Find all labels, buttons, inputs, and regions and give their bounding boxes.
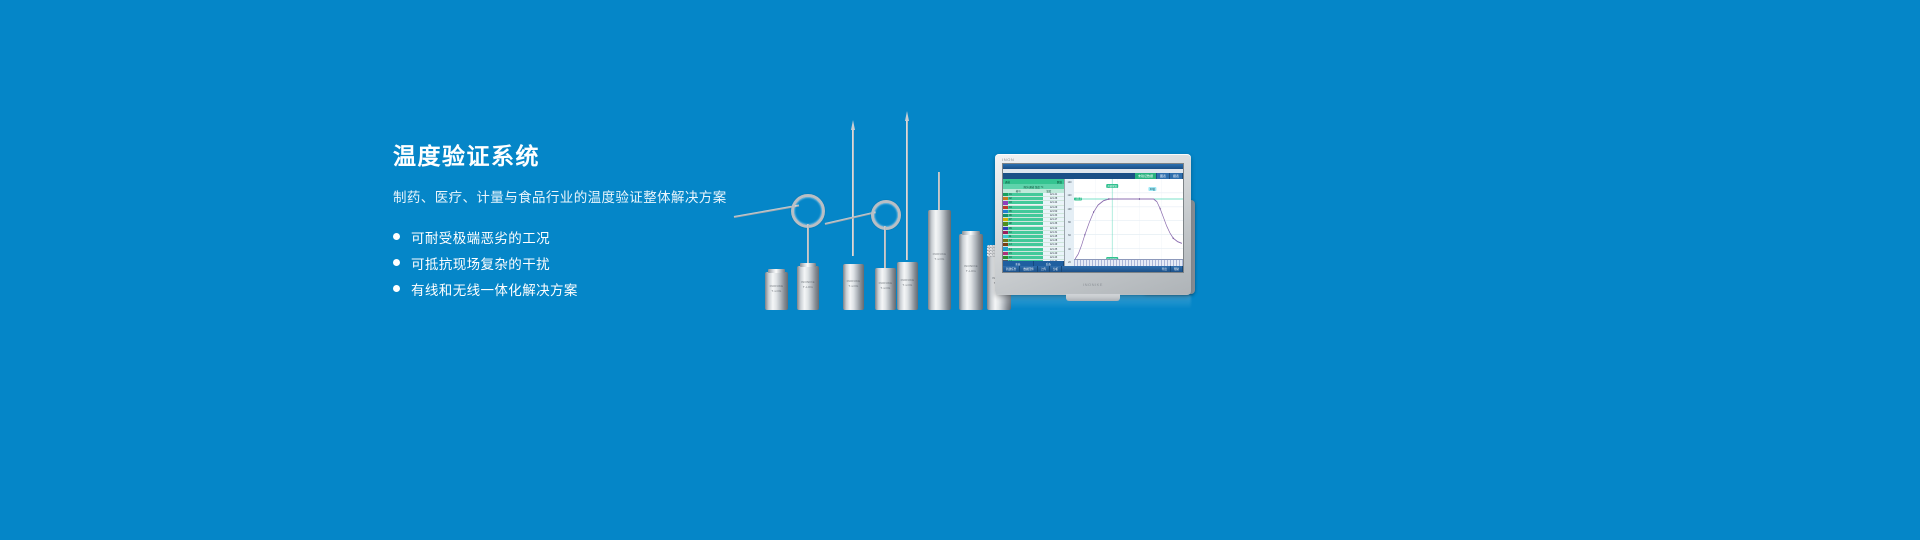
channel-id-cell: 03	[1008, 201, 1043, 204]
channel-value-cell: 121.35	[1043, 248, 1064, 251]
marker-setpoint: 121.5	[1074, 198, 1082, 201]
channel-id-cell: 15	[1008, 252, 1043, 255]
data-upload-button[interactable]: 数据回传	[1020, 266, 1037, 272]
channel-id-cell: 06	[1008, 214, 1043, 217]
logger-label: INONIKET‑LOG	[964, 264, 978, 273]
channel-value-cell: 121.41	[1043, 193, 1064, 196]
channel-value-cell: 121.33	[1043, 214, 1064, 217]
curve-data-points	[1084, 198, 1173, 239]
chart-plot-area[interactable]: 开始保温 结束保温 F0值 121.5	[1074, 179, 1183, 266]
channel-id-cell: 14	[1008, 248, 1043, 251]
chart-gridlines	[1074, 179, 1183, 266]
channel-value-cell: 121.44	[1043, 201, 1064, 204]
stem-logger: INONIKET‑LOG	[928, 210, 951, 310]
software-toolbar: 新建任务 数据回传 上传 分析 导出 帮助	[1003, 266, 1183, 272]
short-logger-1: INONIKET‑LOG	[765, 272, 788, 310]
bullet-dot-icon	[393, 285, 400, 292]
logger-label: INONIKET‑LOG	[770, 284, 784, 293]
logger-label: INONIKET‑LOG	[901, 278, 915, 287]
channel-id-cell: 12	[1008, 239, 1043, 242]
logger-label: INONIKET‑LOG	[933, 252, 947, 261]
needle-probe-logger-2	[906, 120, 908, 260]
channel-value-cell: 121.45	[1043, 235, 1064, 238]
channel-value-cell: 121.49	[1043, 243, 1064, 246]
chart-y-tick: 140	[1068, 181, 1072, 184]
stem-probe	[938, 172, 940, 210]
logger-cap	[768, 269, 785, 273]
chart-y-tick: 40	[1068, 248, 1071, 251]
chart-y-tick: 60	[1068, 234, 1071, 237]
monitor-reflection	[995, 295, 1191, 309]
channel-table-rows: 01121.4102121.3803121.4404121.2905121.50…	[1003, 193, 1064, 261]
bullet-dot-icon	[393, 233, 400, 240]
coil-stem-right	[884, 226, 886, 268]
logger-label: INONIKET‑LOG	[801, 280, 815, 289]
software-screen: 未验证数据 图表 报表 通道 数值 探头/通道 温度 ℃ 编号 温度 01	[1002, 163, 1184, 273]
chart-y-tick: 80	[1068, 221, 1071, 224]
marker-start-hold[interactable]: 开始保温	[1106, 184, 1118, 188]
logger-cap	[800, 263, 816, 267]
upload-button[interactable]: 上传	[1038, 266, 1050, 272]
coil-logger-base-right: INONIKET‑LOG	[875, 268, 896, 310]
needle-probe-logger-1	[852, 129, 854, 256]
coiled-probe-logger-left	[791, 194, 825, 228]
chart-horizontal-scrollbar[interactable]	[1074, 259, 1183, 266]
channel-value-cell: 121.43	[1043, 256, 1064, 259]
channel-value-cell: 121.50	[1043, 210, 1064, 213]
hero-banner: 温度验证系统 制药、医疗、计量与食品行业的温度验证整体解决方案 可耐受极端恶劣的…	[0, 0, 1920, 540]
channel-value-cell: 121.31	[1043, 231, 1064, 234]
feature-text: 可耐受极端恶劣的工况	[411, 227, 550, 247]
channel-value-cell: 121.42	[1043, 227, 1064, 230]
export-button[interactable]: 导出	[1159, 266, 1171, 272]
tall-logger: INONIKET‑LOG	[959, 234, 983, 310]
coil-wire-right	[825, 211, 876, 225]
new-task-button[interactable]: 新建任务	[1003, 266, 1020, 272]
bullet-dot-icon	[393, 259, 400, 266]
channel-id-cell: 05	[1008, 210, 1043, 213]
channel-value-cell: 121.40	[1043, 252, 1064, 255]
channel-id-cell: 08	[1008, 222, 1043, 225]
logger-label: INONIKET‑LOG	[847, 279, 861, 288]
chart-y-axis: 14012010080604020	[1065, 179, 1074, 266]
channel-table: 通道 数值 探头/通道 温度 ℃ 编号 温度 01121.4102121.380…	[1003, 179, 1065, 266]
channel-value-cell: 121.47	[1043, 218, 1064, 221]
channel-table-head-right: 数值	[1057, 180, 1062, 184]
monitor-brand-text: INON	[1002, 157, 1014, 162]
short-logger-2: INONIKET‑LOG	[797, 266, 819, 310]
monitor-chin: INONIKE	[995, 273, 1191, 295]
channel-id-cell: 07	[1008, 218, 1043, 221]
channel-id-cell: 13	[1008, 243, 1043, 246]
feature-text: 可抵抗现场复杂的干扰	[411, 253, 550, 273]
monitor-display: INON 未验证数据 图表 报表 通道 数值 探头/通道 温度 ℃	[995, 154, 1191, 295]
channel-table-head-left: 通道	[1005, 180, 1010, 184]
channel-id-cell: 01	[1008, 193, 1043, 196]
marker-f0-value[interactable]: F0值	[1149, 187, 1156, 191]
toolbar-spacer	[1062, 266, 1159, 272]
feature-text: 有线和无线一体化解决方案	[411, 279, 578, 299]
chart-y-tick: 100	[1068, 208, 1072, 211]
channel-value-cell: 121.29	[1043, 206, 1064, 209]
chart-y-tick: 120	[1068, 194, 1072, 197]
analyze-button[interactable]: 分析	[1050, 266, 1062, 272]
logger-cap	[962, 231, 980, 235]
channel-id-cell: 09	[1008, 227, 1043, 230]
channel-value-cell: 121.38	[1043, 197, 1064, 200]
channel-id-cell: 11	[1008, 235, 1043, 238]
coiled-probe-logger-right	[871, 200, 901, 230]
help-button[interactable]: 帮助	[1171, 266, 1183, 272]
channel-id-cell: 04	[1008, 206, 1043, 209]
chart-y-tick: 20	[1068, 261, 1071, 264]
channel-value-cell: 121.36	[1043, 222, 1064, 225]
needle-logger-base-2: INONIKET‑LOG	[897, 262, 918, 310]
software-body: 通道 数值 探头/通道 温度 ℃ 编号 温度 01121.4102121.380…	[1003, 179, 1183, 266]
needle-logger-base-1: INONIKET‑LOG	[843, 264, 864, 310]
coil-stem-left	[807, 224, 809, 268]
channel-value-cell: 121.28	[1043, 239, 1064, 242]
temperature-curve	[1075, 199, 1182, 259]
channel-id-cell: 16	[1008, 256, 1043, 259]
chart-panel: 14012010080604020	[1065, 179, 1183, 266]
channel-id-cell: 10	[1008, 231, 1043, 234]
channel-id-cell: 02	[1008, 197, 1043, 200]
coil-wire-left	[734, 205, 799, 218]
monitor-logo-text: INONIKE	[1083, 282, 1103, 287]
temperature-curve-svg	[1074, 179, 1183, 266]
logger-label: INONIKET‑LOG	[879, 281, 893, 290]
